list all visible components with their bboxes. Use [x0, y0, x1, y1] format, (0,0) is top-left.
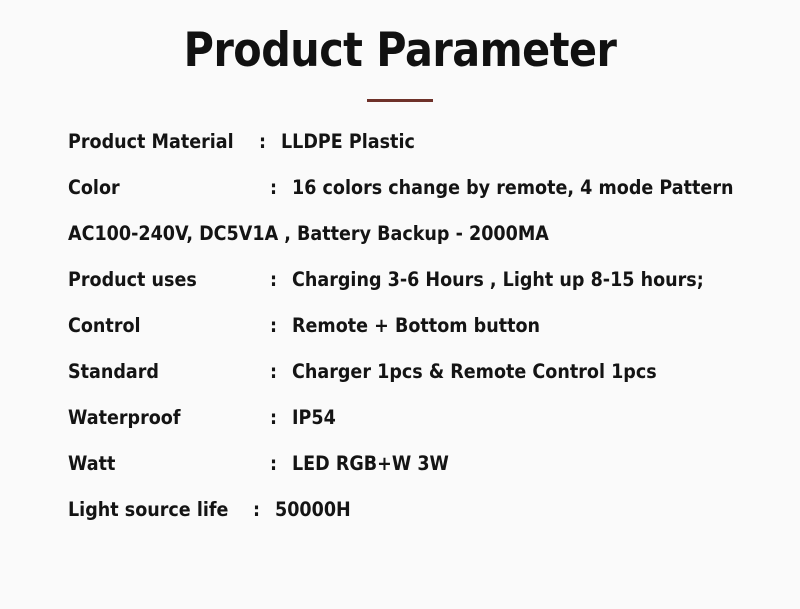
spec-label-cell: Waterproof — [68, 408, 270, 428]
spec-value: IP54 — [292, 408, 731, 428]
spec-colon: : — [270, 178, 290, 198]
spec-value: Charger 1pcs & Remote Control 1pcs — [292, 362, 731, 382]
spec-value: 16 colors change by remote, 4 mode Patte… — [292, 178, 733, 198]
spec-label: Control — [68, 316, 141, 336]
spec-label: Product Material — [68, 132, 234, 152]
page-title: Product Parameter — [48, 26, 752, 77]
spec-label: Standard — [68, 362, 159, 382]
spec-value: LED RGB+W 3W — [292, 454, 731, 474]
spec-row-power: AC100-240V, DC5V1A , Battery Backup - 20… — [68, 224, 780, 270]
spec-colon: : — [253, 500, 273, 520]
spec-label-cell: Control — [68, 316, 270, 336]
spec-label-cell: Watt — [68, 454, 270, 474]
spec-value: LLDPE Plastic — [281, 132, 730, 152]
spec-row: Light source life : 50000H — [68, 500, 780, 546]
spec-colon: : — [270, 454, 290, 474]
spec-row: Watt : LED RGB+W 3W — [68, 454, 780, 500]
spec-row: Control : Remote + Bottom button — [68, 316, 780, 362]
spec-label: Light source life — [68, 500, 228, 520]
spec-label: Waterproof — [68, 408, 181, 428]
product-parameter-page: Product Parameter Product Material : LLD… — [0, 0, 800, 609]
spec-colon: : — [270, 316, 290, 336]
title-divider-wrap — [0, 99, 800, 102]
spec-label: Color — [68, 178, 120, 198]
spec-value: 50000H — [275, 500, 729, 520]
page-header: Product Parameter — [0, 0, 800, 102]
spec-label-cell: Light source life — [68, 500, 253, 520]
spec-row: Product uses : Charging 3-6 Hours , Ligh… — [68, 270, 780, 316]
spec-label: Watt — [68, 454, 115, 474]
spec-label-cell: Standard — [68, 362, 270, 382]
title-divider — [367, 99, 433, 102]
spec-colon: : — [259, 132, 279, 152]
specification-list: Product Material : LLDPE Plastic Color :… — [0, 132, 800, 546]
spec-label-cell: Color — [68, 178, 270, 198]
spec-value: Charging 3-6 Hours , Light up 8-15 hours… — [292, 270, 731, 290]
spec-row: Product Material : LLDPE Plastic — [68, 132, 780, 178]
spec-row: Waterproof : IP54 — [68, 408, 780, 454]
spec-colon: : — [270, 270, 290, 290]
spec-row: Standard : Charger 1pcs & Remote Control… — [68, 362, 780, 408]
spec-power-text: AC100-240V, DC5V1A , Battery Backup - 20… — [68, 224, 709, 244]
spec-value: Remote + Bottom button — [292, 316, 731, 336]
spec-colon: : — [270, 362, 290, 382]
spec-row: Color : 16 colors change by remote, 4 mo… — [68, 178, 780, 224]
spec-label: Product uses — [68, 270, 197, 290]
spec-label-cell: Product uses — [68, 270, 270, 290]
spec-label-cell: Product Material — [68, 132, 259, 152]
spec-colon: : — [270, 408, 290, 428]
